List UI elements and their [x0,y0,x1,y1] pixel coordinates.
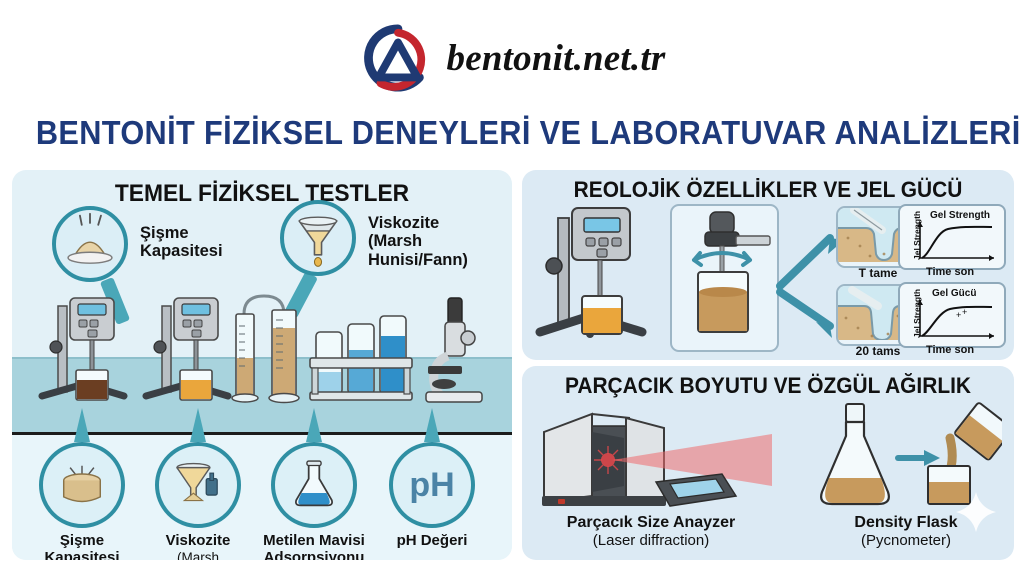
graduated-cylinders-icon [232,296,299,403]
site-name: bentonit.net.tr [447,37,666,80]
callout-swelling-label: Şişme Kapasitesi [140,224,223,261]
panel-title-rheology: REOLOJİK ÖZELLİKLER VE JEL GÜCÜ [534,177,1001,203]
pointer-group [12,406,512,442]
spindle-zoom-box [670,204,779,352]
blue-flask-icon [271,442,357,528]
branch-arrows [772,214,844,344]
sparkle-icon [954,490,998,534]
funnel-viscosity-icon [280,200,356,276]
density-flask-sub: (Pycnometer) [810,532,1002,549]
svg-text:+: + [962,307,967,317]
arrow-down [780,292,830,326]
particle-analyzer-name: Parçacık Size Anayzer [536,514,766,532]
pointer-triangle [74,408,90,442]
label-line2: Adsorpsiyonu [254,550,374,560]
callout-swelling-line2: Kapasitesi [140,242,223,260]
label-line1: pH Değeri [372,533,492,550]
bottom-item-ph-label: pH Değeri [372,533,492,550]
bottom-item-viscosity-label: Viskozite (Marsh Hunisi/Fann) [138,533,258,560]
swelling-sample-dish-icon [52,206,128,282]
chart-gel-gucu-xlabel: Time son [898,344,1002,356]
microscope-icon [426,298,482,402]
spindle-mixing-zoom-icon [672,206,773,346]
callout-swelling-line1: Şişme [140,224,223,242]
bottom-item-ph[interactable]: pH pH Değeri [372,442,492,550]
pointer-triangle [306,408,322,442]
particle-analyzer-caption: Parçacık Size Anayzer (Laser diffraction… [536,514,766,549]
panel-basic-physical-tests: TEMEL FİZİKSEL TESTLER Şişme Kapasitesi [12,170,512,560]
label-line2: (Marsh Hunisi/Fann) [138,550,258,560]
chart-gel-gucu: Gel Gücü Jel Strength + + [898,282,1006,348]
ph-symbol-text: pH [409,466,454,505]
pointer-triangle [424,408,440,442]
bottom-item-swelling[interactable]: Şişme Kapasitesi [22,442,142,560]
bottom-item-viscosity[interactable]: Viskozite (Marsh Hunisi/Fann) [138,442,258,560]
funnel-scoop-icon [155,442,241,528]
rotational-viscometer-icon [534,204,664,352]
label-line1: Viskozite [138,533,258,550]
ph-meter-icon: pH [389,442,475,528]
chart-gel-gucu-plot: + + [916,298,998,342]
brand-header: bentonit.net.tr [0,22,1024,94]
callout-viscosity-line2: (Marsh Hunisi/Fann) [368,232,512,269]
arrow-up [780,238,830,286]
laser-particle-size-analyzer-icon [536,404,776,514]
panel-particle-size-density: PARÇACIK BOYUTU VE ÖZGÜL AĞIRLIK Parçacı… [522,366,1014,560]
panel-rheology-gel-strength: REOLOJİK ÖZELLİKLER VE JEL GÜCÜ [522,170,1014,360]
particle-analyzer-sub: (Laser diffraction) [536,532,766,549]
callout-viscosity-label: Viskozite (Marsh Hunisi/Fann) [368,214,512,269]
bottom-item-methylene-blue-label: Metilen Mavisi Adsorpsiyonu [254,533,374,560]
bottom-item-swelling-label: Şişme Kapasitesi [22,533,142,560]
label-line2: Kapasitesi [22,550,142,560]
swelling-cake-icon [39,442,125,528]
chart-gel-strength-xlabel: Time son [898,266,1002,278]
viscometer-dark-beaker-icon [42,298,124,400]
svg-text:+: + [956,310,961,320]
test-tube-rack-icon [310,316,412,400]
bentonit-monogram-logo-icon [359,23,437,93]
bottom-item-methylene-blue[interactable]: Metilen Mavisi Adsorpsiyonu [254,442,374,560]
label-line1: Şişme [22,533,142,550]
pointer-triangle [190,408,206,442]
chart-gel-strength: Gel Strength Jel Strength [898,204,1006,270]
label-line1: Metilen Mavisi [254,533,374,550]
page-title: BENTONİT FİZİKSEL DENEYLERİ VE LABORATUV… [36,114,988,152]
panel-title-particle: PARÇACIK BOYUTU VE ÖZGÜL AĞIRLIK [534,373,1001,399]
chart-gel-strength-plot [916,220,998,264]
callout-viscosity-line1: Viskozite [368,214,512,232]
infographic-page: bentonit.net.tr BENTONİT FİZİKSEL DENEYL… [0,0,1024,572]
viscometer-amber-beaker-icon [146,298,228,400]
